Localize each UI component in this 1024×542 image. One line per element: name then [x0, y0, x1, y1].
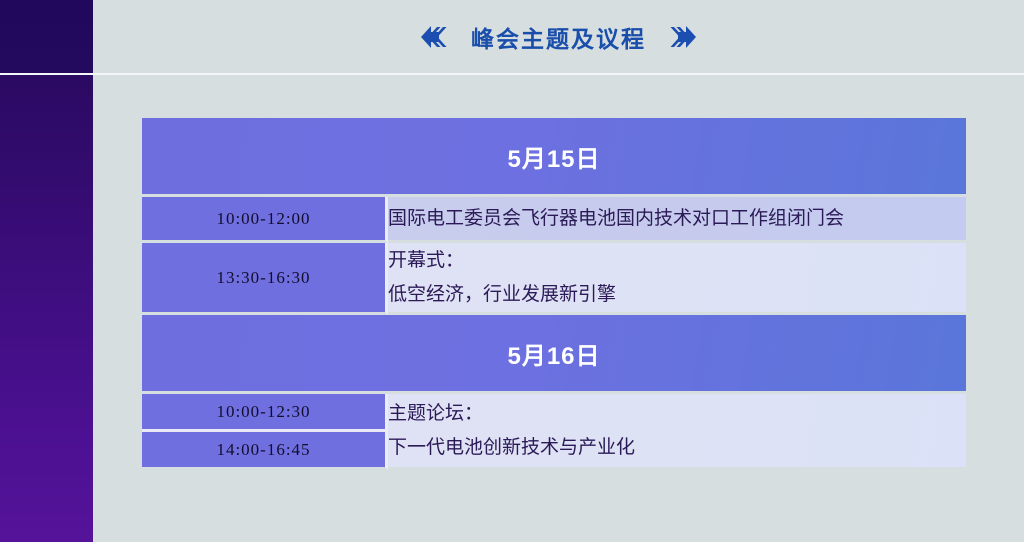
agenda-table: 5月15日 10:00-12:00 国际电工委员会飞行器电池国内技术对口工作组闭…	[142, 118, 966, 470]
session-time: 10:00-12:30	[142, 394, 388, 432]
table-row: 10:00-12:00 国际电工委员会飞行器电池国内技术对口工作组闭门会	[142, 197, 966, 243]
session-title: 国际电工委员会飞行器电池国内技术对口工作组闭门会	[388, 197, 966, 243]
double-chevron-left-arrow-icon	[415, 24, 449, 50]
table-row: 5月15日	[142, 118, 966, 197]
session-title-group: 主题论坛： 下一代电池创新技术与产业化	[388, 394, 966, 470]
slide-header: 峰会主题及议程	[93, 0, 1024, 73]
sidebar-accent-bottom	[0, 75, 93, 542]
session-time: 10:00-12:00	[142, 197, 388, 243]
page-title: 峰会主题及议程	[471, 20, 646, 54]
double-chevron-right-arrow-icon	[668, 24, 702, 50]
table-row: 5月16日	[142, 315, 966, 394]
day-header-2: 5月16日	[142, 315, 966, 394]
session-title-line: 低空经济，行业发展新引擎	[388, 278, 966, 312]
session-title-group: 开幕式： 低空经济，行业发展新引擎	[388, 243, 966, 315]
table-row: 10:00-12:30 主题论坛： 下一代电池创新技术与产业化	[142, 394, 966, 432]
session-title-line: 开幕式：	[388, 244, 966, 278]
session-title-line: 主题论坛：	[388, 397, 966, 431]
session-time: 14:00-16:45	[142, 432, 388, 470]
header-divider	[0, 73, 1024, 75]
table-row: 13:30-16:30 开幕式： 低空经济，行业发展新引擎	[142, 243, 966, 315]
session-title-line: 下一代电池创新技术与产业化	[388, 431, 966, 465]
slide-canvas: 峰会主题及议程 5月15日 10:00-12:00 国际电工委员会飞行器电池国内…	[0, 0, 1024, 542]
session-time: 13:30-16:30	[142, 243, 388, 315]
day-header-1: 5月15日	[142, 118, 966, 197]
sidebar-accent-top	[0, 0, 93, 73]
